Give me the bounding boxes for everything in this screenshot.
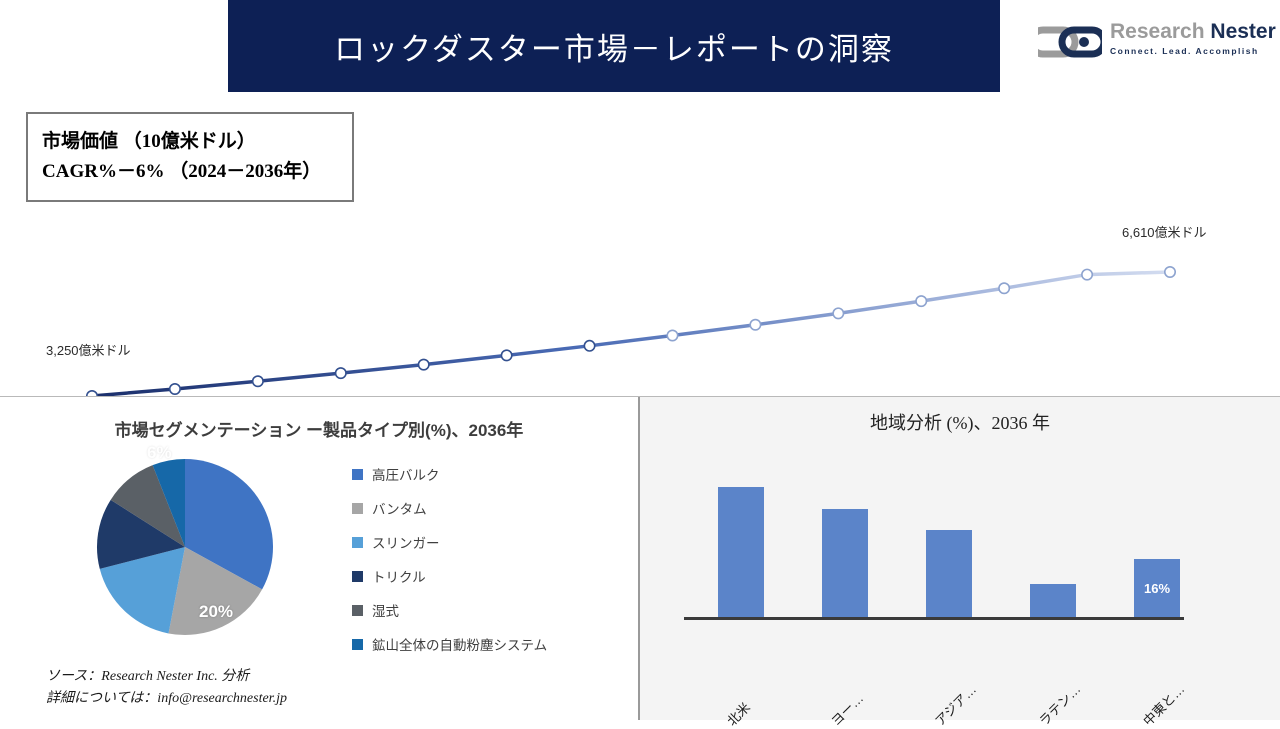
legend-item-2[interactable]: スリンガー [352, 525, 592, 559]
line-data-point [833, 308, 843, 318]
legend-item-4[interactable]: 湿式 [352, 593, 592, 627]
header-title-band: ロックダスター市場－レポートの洞察 [228, 0, 1000, 92]
legend-label: バンタム [372, 498, 427, 518]
legend-item-5[interactable]: 鉱山全体の自動粉塵システム [352, 627, 592, 661]
legend-item-1[interactable]: バンタム [352, 491, 592, 525]
line-data-point [1082, 269, 1092, 279]
legend-label: トリクル [372, 566, 426, 586]
line-data-point [667, 330, 677, 340]
logo-word-nester: Nester [1210, 20, 1275, 43]
source-line2: 詳細については：info@researchnester.jp [46, 688, 287, 710]
bar-2 [926, 530, 972, 617]
legend-item-3[interactable]: トリクル [352, 559, 592, 593]
bar-x-label-4: 中東と… [1138, 679, 1188, 729]
bar-3 [1030, 584, 1076, 617]
bar-chart-title: 地域分析 (%)、2036 年 [640, 409, 1280, 435]
chain-link-icon [1038, 25, 1102, 59]
pie-slice-label-top: 6% [147, 443, 172, 463]
legend-swatch-icon [352, 605, 363, 616]
source-line1: ソース：Research Nester Inc. 分析 [46, 666, 287, 688]
market-value-line1: 市場価値 （10億米ドル） [42, 127, 352, 157]
regional-analysis-panel: 地域分析 (%)、2036 年 北米ヨー…アジア…ラテン…中東と…16% [640, 397, 1280, 720]
logo-wordmark: Research Nester [1110, 20, 1276, 44]
source-note: ソース：Research Nester Inc. 分析 詳細については：info… [46, 666, 287, 710]
bar-x-label-0: 北米 [722, 698, 754, 729]
line-data-point [501, 350, 511, 360]
legend-swatch-icon [352, 639, 363, 650]
legend-swatch-icon [352, 503, 363, 514]
line-data-point [1165, 267, 1175, 277]
market-value-line-chart-panel: 市場価値 （10億米ドル） CAGR%－6% （2024－2036年） 3,25… [0, 92, 1280, 397]
page-title: ロックダスター市場－レポートの洞察 [228, 0, 1000, 92]
logo-tagline: Connect. Lead. Accomplish [1110, 44, 1276, 58]
pie-chart-svg [95, 457, 275, 637]
bar-chart-baseline [684, 617, 1184, 620]
market-value-line2: CAGR%－6% （2024－2036年） [42, 157, 352, 187]
pie-chart-title: 市場セグメンテーション ー製品タイプ別(%)、2036年 [0, 416, 638, 441]
line-data-point [999, 283, 1009, 293]
line-data-point [418, 359, 428, 369]
line-data-point [584, 341, 594, 351]
logo-text-block: Research Nester Connect. Lead. Accomplis… [1110, 20, 1276, 58]
legend-label: 湿式 [372, 600, 399, 620]
legend-label: スリンガー [372, 532, 440, 552]
bar-x-label-2: アジア… [930, 680, 980, 729]
line-data-point [170, 384, 180, 394]
legend-item-0[interactable]: 高圧バルク [352, 457, 592, 491]
legend-swatch-icon [352, 469, 363, 480]
bar-x-label-1: ヨー… [826, 688, 867, 729]
legend-swatch-icon [352, 537, 363, 548]
page-header: ロックダスター市場－レポートの洞察 Research Nester Connec… [0, 0, 1280, 92]
legend-swatch-icon [352, 571, 363, 582]
legend-label: 鉱山全体の自動粉塵システム [372, 634, 547, 654]
bar-x-label-3: ラテン… [1034, 679, 1084, 729]
bar-chart-bars: 北米ヨー…アジア…ラテン…中東と…16% [700, 487, 1220, 617]
line-data-point [336, 368, 346, 378]
pie-chart-legend: 高圧バルクバンタムスリンガートリクル湿式鉱山全体の自動粉塵システム [352, 457, 592, 661]
research-nester-logo: Research Nester Connect. Lead. Accomplis… [1038, 20, 1256, 72]
bar-1 [822, 509, 868, 617]
line-data-point [750, 320, 760, 330]
bar-0 [718, 487, 764, 617]
pie-chart: 20% 6% [95, 457, 275, 637]
logo-word-research: Research [1110, 20, 1205, 43]
line-data-point [253, 376, 263, 386]
bar-value-label: 16% [1144, 581, 1170, 596]
pie-slice-label-main: 20% [199, 602, 233, 622]
legend-label: 高圧バルク [372, 464, 440, 484]
line-data-point [916, 296, 926, 306]
